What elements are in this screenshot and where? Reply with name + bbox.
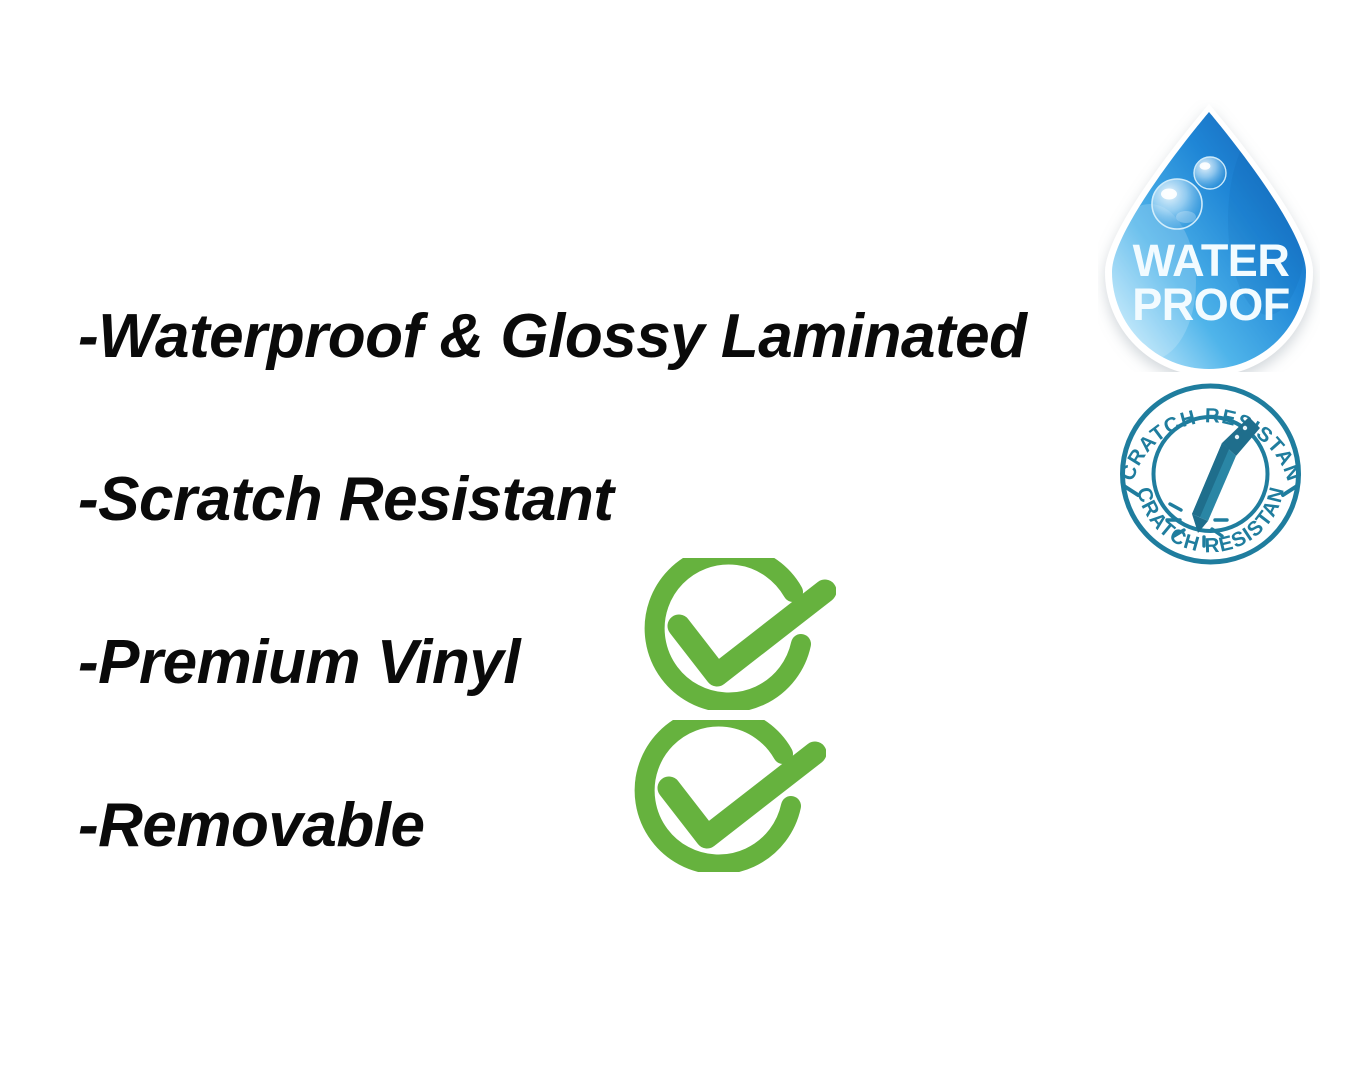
waterproof-badge: WATER PROOF bbox=[1098, 100, 1320, 372]
water-bubble-icon bbox=[1152, 179, 1202, 229]
feature-item-waterproof: -Waterproof & Glossy Laminated bbox=[78, 255, 1098, 418]
check-mark-icon bbox=[641, 558, 836, 710]
feature-item-removable: -Removable bbox=[78, 744, 1098, 907]
scratch-resistant-badge: SCRATCH RESISTANT SCRATCH RESISTANT bbox=[1108, 383, 1313, 566]
check-mark-icon bbox=[631, 720, 826, 872]
waterproof-label-line2: PROOF bbox=[1132, 279, 1290, 330]
feature-list: -Waterproof & Glossy Laminated -Scratch … bbox=[78, 255, 1098, 907]
scratch-label-top: SCRATCH RESISTANT bbox=[1108, 383, 1305, 485]
feature-item-premium-vinyl: -Premium Vinyl bbox=[78, 581, 1098, 744]
feature-item-scratch-resistant: -Scratch Resistant bbox=[78, 418, 1098, 581]
promo-feature-graphic: -Waterproof & Glossy Laminated -Scratch … bbox=[0, 0, 1359, 1080]
water-bubble-icon bbox=[1194, 157, 1226, 189]
